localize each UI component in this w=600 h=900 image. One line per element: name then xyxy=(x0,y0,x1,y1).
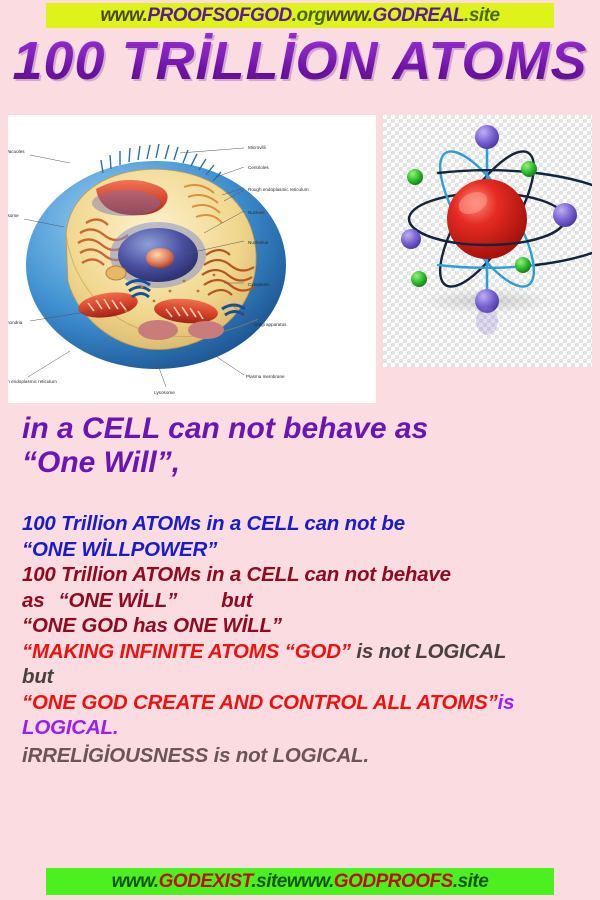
body-line-6a: “MAKING INFINITE ATOMS “GOD” xyxy=(22,640,351,663)
illustration-row: Microvilli Centrioles Rough endoplasmic … xyxy=(8,115,592,405)
body-line-7: but xyxy=(22,664,594,690)
body-line-6: “MAKING INFINITE ATOMS “GOD” is not LOGI… xyxy=(22,639,594,665)
animal-cell-illustration: Microvilli Centrioles Rough endoplasmic … xyxy=(8,115,376,403)
top-banner: www.PROOFSOFGOD.orgwww.GODREAL.site xyxy=(46,3,554,28)
electron-green-lower-right xyxy=(515,257,531,273)
cell-label-smooth-er: Smooth endoplasmic reticulum xyxy=(8,379,57,384)
body-line-1: 100 Trillion ATOMs in a CELL can not be xyxy=(22,511,594,537)
body-line-6b: is not LOGICAL xyxy=(356,640,506,663)
body-line-4c: but xyxy=(221,589,252,612)
top-site-2-name: GODREAL xyxy=(373,5,465,26)
bottom-banner: www.GODEXIST.sitewww.GODPROOFS.site xyxy=(46,868,554,895)
subheadline-line-2: “One Will”, xyxy=(22,446,588,480)
top-site-2-prefix: www. xyxy=(326,5,373,26)
body-line-4b: “ONE WİLL” xyxy=(58,589,177,612)
bottom-site-2[interactable]: www.GODPROOFS.site xyxy=(287,871,488,892)
bottom-site-1-suffix: .site xyxy=(251,871,287,892)
electron-purple-right xyxy=(553,203,577,227)
top-site-2-suffix: .site xyxy=(464,5,500,26)
electron-green-lower-left xyxy=(411,271,427,287)
electron-green-upper-right xyxy=(521,161,537,177)
bottom-site-1-prefix: www. xyxy=(112,871,159,892)
cell-label-vacuoles: Vacuoles xyxy=(8,149,25,154)
page-title: 100 TRİLLİON ATOMS xyxy=(0,32,600,90)
cell-label-microvilli: Microvilli xyxy=(248,145,266,150)
atom-illustration xyxy=(383,115,592,367)
electron-green-upper-left xyxy=(407,169,423,185)
electron-purple-left xyxy=(401,229,421,249)
body-line-3: 100 Trillion ATOMs in a CELL can not beh… xyxy=(22,562,594,588)
subheadline: in a CELL can not behave as “One Will”, xyxy=(22,412,588,480)
cell-label-mitochondria: Mitochondria xyxy=(8,320,23,325)
top-site-1-suffix: .org xyxy=(292,5,326,26)
top-site-1-prefix: www. xyxy=(100,5,147,26)
cell-label-lysosome: Lysosome xyxy=(154,390,175,395)
subheadline-line-1: in a CELL can not behave as xyxy=(22,412,588,446)
top-site-2[interactable]: www.GODREAL.site xyxy=(326,5,500,26)
cell-label-centrioles: Centrioles xyxy=(248,165,269,170)
body-text: 100 Trillion ATOMs in a CELL can not be … xyxy=(22,511,594,768)
body-line-8b: is xyxy=(498,691,515,714)
body-line-4: as“ONE WİLL”but xyxy=(22,588,594,614)
cell-label-plasma-membrane: Plasma membrane xyxy=(246,374,285,379)
poster-canvas: www.PROOFSOFGOD.orgwww.GODREAL.site 100 … xyxy=(0,0,600,900)
top-site-1[interactable]: www.PROOFSOFGOD.org xyxy=(100,5,325,26)
electron-purple-top xyxy=(475,125,499,149)
bottom-site-1[interactable]: www.GODEXIST.site xyxy=(112,871,287,892)
cell-label-golgi: Golgi apparatus xyxy=(254,322,287,327)
body-line-8a: “ONE GOD CREATE AND CONTROL ALL ATOMS” xyxy=(22,691,498,714)
cell-label-nucleolus: Nucleolus xyxy=(248,240,269,245)
body-line-8: “ONE GOD CREATE AND CONTROL ALL ATOMS”is xyxy=(22,690,594,716)
cell-label-nucleus: Nucleus xyxy=(248,210,265,215)
cell-label-ribosome: Ribosome xyxy=(8,213,19,218)
body-line-4a: as xyxy=(22,589,44,612)
cell-label-rough-er: Rough endoplasmic reticulum xyxy=(248,187,309,192)
cell-label-cytoplasm: Cytoplasm xyxy=(248,282,270,287)
bottom-site-1-name: GODEXIST xyxy=(159,871,252,892)
body-line-9: LOGICAL. xyxy=(22,715,594,741)
body-line-2: “ONE WİLLPOWER” xyxy=(22,537,594,563)
bottom-site-2-name: GODPROOFS xyxy=(334,871,453,892)
body-line-10: iRRELİGİOUSNESS is not LOGICAL. xyxy=(22,743,594,769)
body-line-5: “ONE GOD has ONE WİLL” xyxy=(22,613,594,639)
bottom-site-2-prefix: www. xyxy=(287,871,334,892)
top-site-1-name: PROOFSOFGOD xyxy=(147,5,291,26)
bottom-site-2-suffix: .site xyxy=(453,871,489,892)
